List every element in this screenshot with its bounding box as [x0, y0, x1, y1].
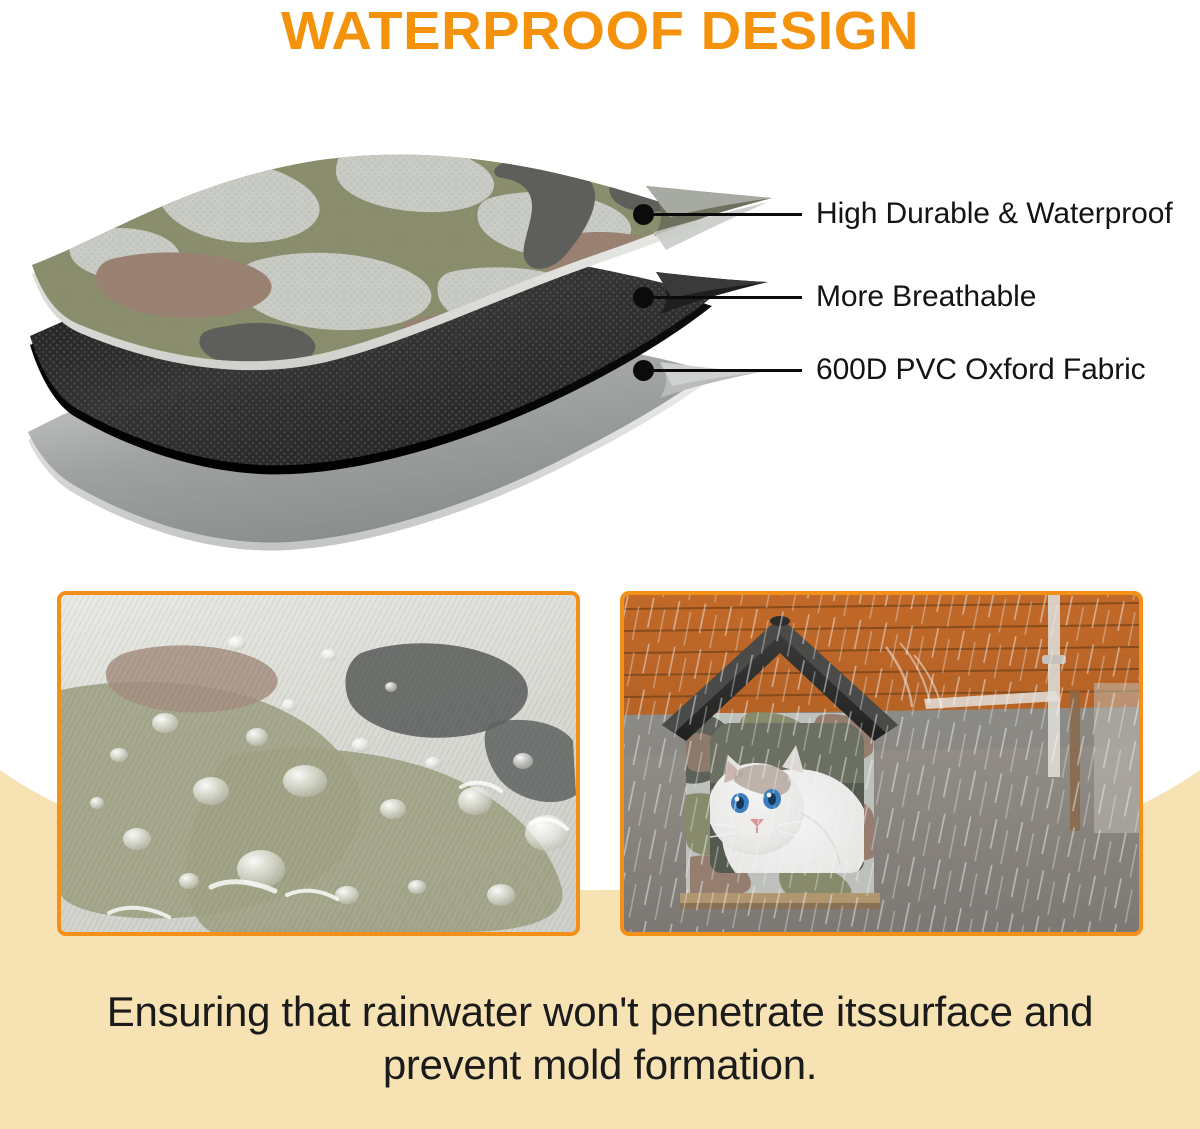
callout-dot-icon [633, 287, 654, 308]
photo-cat-house-in-rain [620, 591, 1143, 936]
page-title: WATERPROOF DESIGN [0, 2, 1200, 60]
callout-label: More Breathable [816, 280, 1036, 314]
callout-dot-icon [633, 204, 654, 225]
callout-more-breathable: More Breathable [633, 280, 1036, 314]
callout-leader-line [652, 296, 802, 299]
callout-label: 600D PVC Oxford Fabric [816, 353, 1146, 387]
callout-600d-pvc-oxford-fabric: 600D PVC Oxford Fabric [633, 353, 1146, 387]
callout-leader-line [652, 369, 802, 372]
callout-leader-line [652, 213, 802, 216]
callout-high-durable-waterproof: High Durable & Waterproof [633, 197, 1173, 231]
photo-water-beading-closeup [57, 591, 580, 936]
bottom-caption: Ensuring that rainwater won't penetrate … [40, 985, 1160, 1091]
callout-label: High Durable & Waterproof [816, 197, 1173, 231]
callout-dot-icon [633, 360, 654, 381]
